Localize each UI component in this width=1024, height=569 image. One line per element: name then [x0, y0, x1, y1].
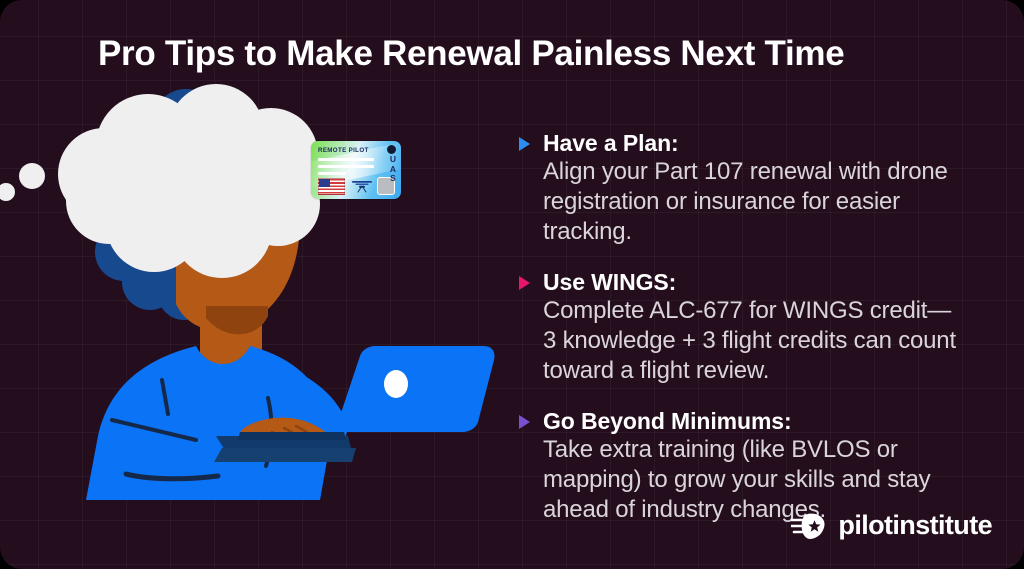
uas-u: U	[390, 154, 396, 164]
card-side-label: UAS	[390, 155, 396, 184]
brand-logo: pilotinstitute	[791, 510, 992, 541]
tip-item-use-wings: Use WINGS: Complete ALC-677 for WINGS cr…	[519, 268, 959, 386]
page-title: Pro Tips to Make Renewal Painless Next T…	[98, 34, 844, 74]
brand-name: pilotinstitute	[838, 510, 992, 541]
uas-a: A	[390, 164, 396, 174]
thought-bubble-trail	[0, 163, 45, 201]
tip-heading: Go Beyond Minimums:	[543, 407, 959, 435]
card-title: REMOTE PILOT	[318, 147, 369, 154]
triangle-right-icon	[519, 415, 530, 429]
tip-body: Complete ALC-677 for WINGS credit—3 know…	[543, 296, 959, 386]
tip-body: Align your Part 107 renewal with drone r…	[543, 157, 959, 247]
uas-s: S	[390, 173, 396, 183]
card-text-line	[318, 158, 374, 161]
infographic-canvas: Pro Tips to Make Renewal Painless Next T…	[0, 0, 1024, 569]
flag-canton	[319, 179, 330, 187]
triangle-right-icon	[519, 137, 530, 151]
seal-icon	[387, 145, 396, 154]
tip-item-go-beyond-minimums: Go Beyond Minimums: Take extra training …	[519, 407, 959, 525]
remote-pilot-certificate-card: REMOTE PILOT UAS	[311, 141, 401, 199]
tip-heading: Have a Plan:	[543, 129, 959, 157]
winged-shield-star-icon	[791, 511, 829, 541]
tips-list: Have a Plan: Align your Part 107 renewal…	[519, 129, 959, 546]
illustration-person-at-laptop	[0, 80, 510, 500]
card-text-line	[318, 172, 346, 175]
tip-item-have-a-plan: Have a Plan: Align your Part 107 renewal…	[519, 129, 959, 247]
drone-icon	[351, 179, 373, 193]
tip-heading: Use WINGS:	[543, 268, 959, 296]
card-text-line	[318, 165, 374, 168]
triangle-right-icon	[519, 276, 530, 290]
us-flag-icon	[318, 178, 345, 195]
thought-bubble-lobe	[118, 136, 268, 246]
